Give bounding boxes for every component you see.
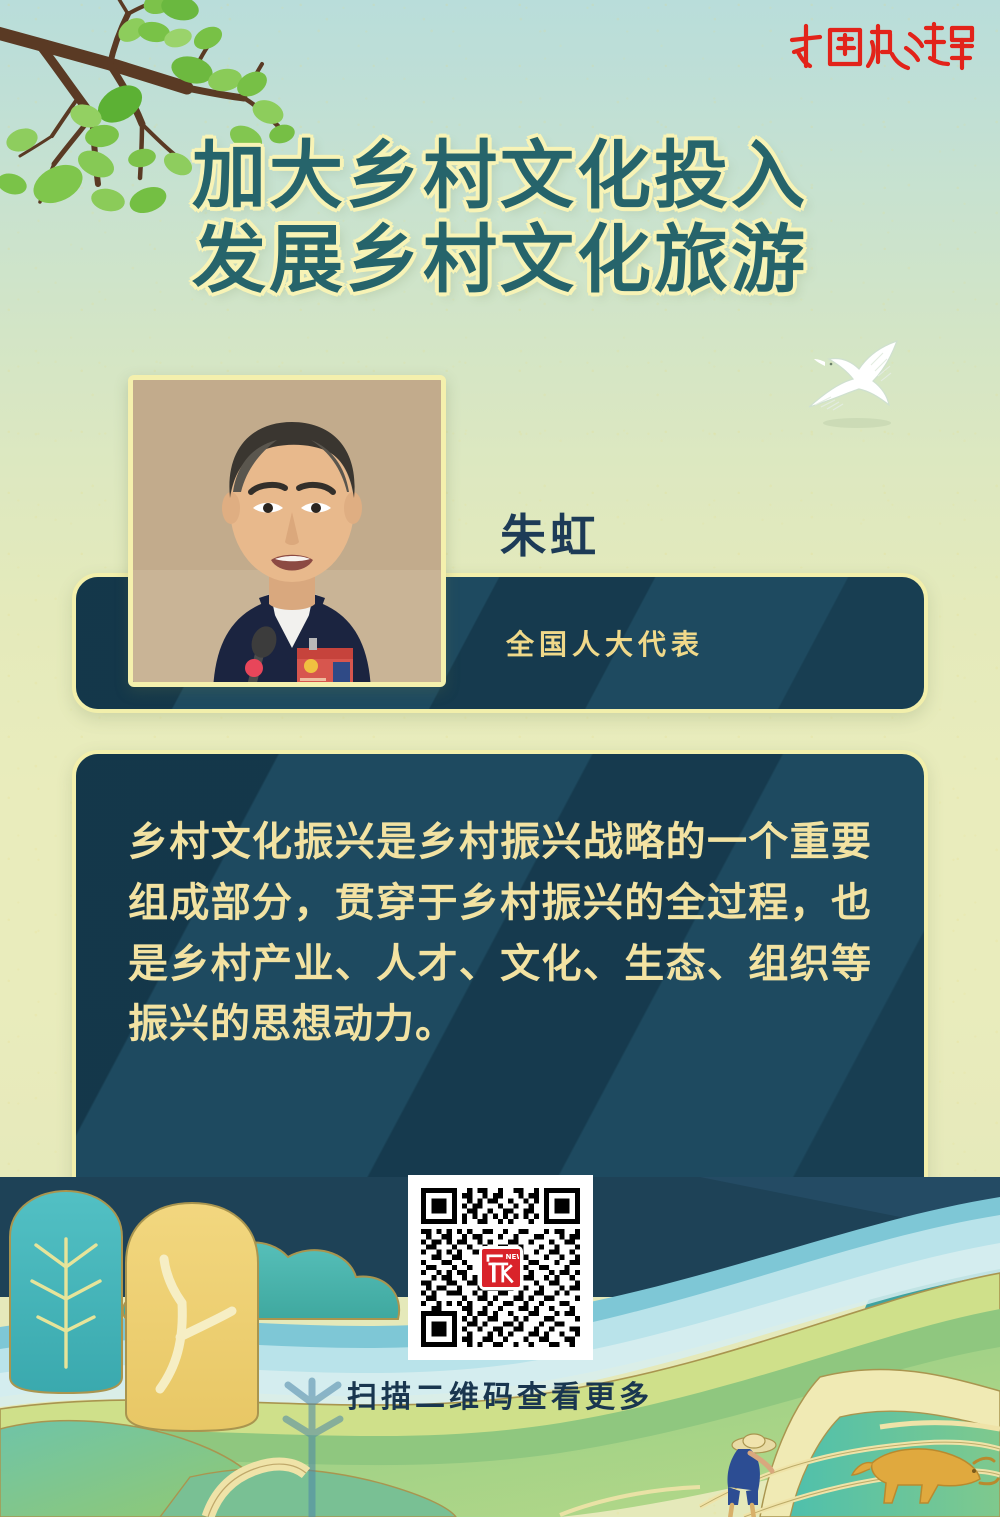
title-line-2: 发展乡村文化旅游: [0, 218, 1000, 302]
qr-center-logo: NEWS: [479, 1246, 523, 1290]
person-name: 朱虹: [500, 500, 600, 566]
title-line-1: 加大乡村文化投入: [0, 134, 1000, 218]
portrait-photo: [128, 375, 446, 687]
qr-code[interactable]: NEWS: [408, 1175, 593, 1360]
flying-bird-icon: [795, 335, 915, 430]
qr-logo-text: NEWS: [505, 1252, 519, 1261]
qr-caption: 扫描二维码查看更多: [0, 1372, 1000, 1416]
quote-text: 乡村文化振兴是乡村振兴战略的一个重要组成部分，贯穿于乡村振兴的全过程，也是乡村产…: [76, 754, 924, 1055]
page-title: 加大乡村文化投入 发展乡村文化旅游: [0, 134, 1000, 303]
masthead-logo: [786, 18, 976, 82]
person-role: 全国人大代表: [506, 623, 704, 663]
tree-teal: [10, 1191, 122, 1393]
poster-root: 加大乡村文化投入 发展乡村文化旅游 朱虹 全国人大代表: [0, 0, 1000, 1517]
